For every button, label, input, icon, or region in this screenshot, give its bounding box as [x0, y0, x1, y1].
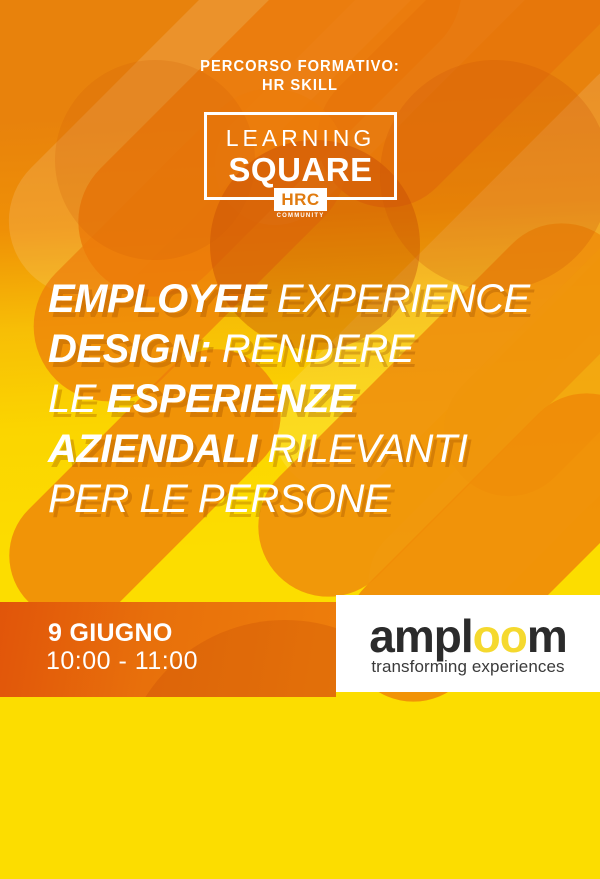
- hrc-logo-text: HRC: [281, 191, 319, 208]
- event-time: 10:00 - 11:00: [46, 646, 198, 676]
- headline-part-5: LE: [48, 377, 107, 421]
- amploom-part-1: ampl: [369, 610, 472, 662]
- amploom-part-oo: oo: [473, 610, 527, 662]
- logo-square-text: SQUARE: [207, 151, 394, 189]
- kicker-line-1: PERCORSO FORMATIVO:: [24, 57, 576, 76]
- headline-part-7: AZIENDALI: [48, 427, 257, 471]
- logo-learning-text: LEARNING: [207, 125, 394, 151]
- kicker-line-2: HR SKILL: [24, 76, 576, 95]
- headline-part-1: EMPLOYEE: [48, 277, 266, 321]
- poster: PERCORSO FORMATIVO: HR SKILL LEARNING SQ…: [0, 0, 600, 879]
- hrc-community-label: COMMUNITY: [264, 213, 337, 219]
- amploom-wordmark: amploom: [336, 611, 600, 661]
- sponsor-tagline: transforming experiences: [336, 657, 600, 677]
- hrc-logo-badge: HRC: [274, 188, 327, 211]
- headline-part-8: RILEVANTI: [257, 427, 468, 471]
- headline-part-3: DESIGN:: [48, 327, 211, 371]
- event-date-bar: 9 GIUGNO 10:00 - 11:00: [0, 602, 336, 697]
- sponsor-logo-panel: amploom transforming experiences: [336, 595, 600, 692]
- headline-part-6: ESPERIENZE: [107, 377, 355, 421]
- event-date: 9 GIUGNO: [48, 618, 173, 648]
- headline-part-9: PER LE PERSONE: [48, 477, 390, 521]
- kicker-text: PERCORSO FORMATIVO: HR SKILL: [24, 57, 576, 95]
- amploom-part-3: m: [527, 610, 567, 662]
- learning-square-logo: LEARNING SQUARE: [204, 112, 397, 200]
- headline-part-2: EXPERIENCE: [266, 277, 529, 321]
- page-title: EMPLOYEE EXPERIENCE DESIGN: RENDERE LE E…: [48, 274, 570, 524]
- headline-part-4: RENDERE: [211, 327, 414, 371]
